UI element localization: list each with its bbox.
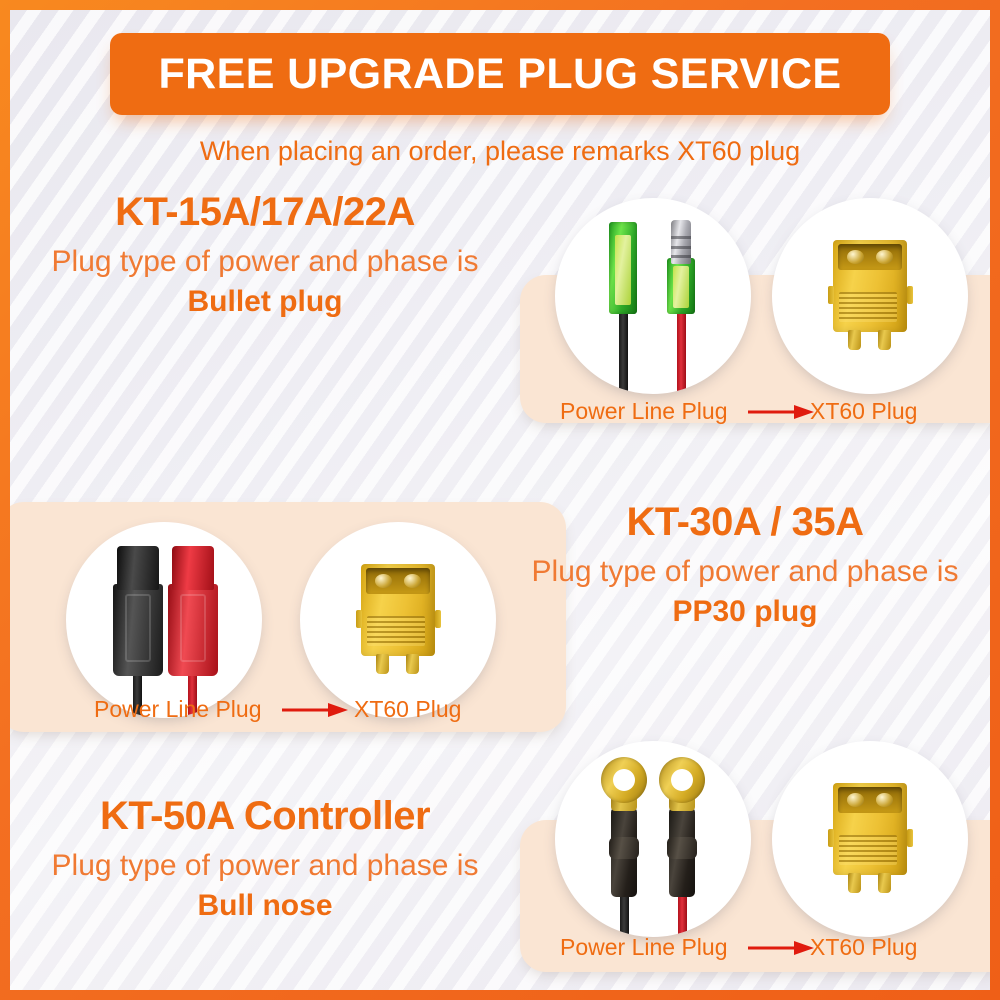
section-3-target-label: XT60 Plug — [810, 934, 917, 961]
section-3-source-photo — [555, 741, 751, 937]
section-1-desc-prefix: Plug type of power and phase is — [52, 245, 479, 278]
section-1-text: KT-15A/17A/22A Plug type of power and ph… — [30, 190, 500, 321]
banner-title: FREE UPGRADE PLUG SERVICE — [159, 50, 842, 99]
section-1-source-photo — [555, 198, 751, 394]
section-1-target-label: XT60 Plug — [810, 398, 917, 425]
section-3-arrow-icon — [748, 939, 816, 962]
section-3-text: KT-50A Controller Plug type of power and… — [30, 794, 500, 925]
section-3-desc-prefix: Plug type of power and phase is — [52, 849, 479, 882]
section-2-desc-prefix: Plug type of power and phase is — [532, 555, 959, 588]
section-2-model: KT-30A / 35A — [510, 500, 980, 544]
xt60-plug-icon — [361, 564, 435, 656]
section-3-target-photo — [772, 741, 968, 937]
bull-nose-ring-terminal-black-icon — [601, 757, 647, 803]
infographic-page: FREE UPGRADE PLUG SERVICE When placing a… — [0, 0, 1000, 1000]
bullet-plug-female-icon — [609, 222, 637, 314]
section-2-description: Plug type of power and phase is PP30 plu… — [510, 552, 980, 631]
header-banner: FREE UPGRADE PLUG SERVICE — [110, 33, 890, 115]
section-row-3: KT-50A Controller Plug type of power and… — [10, 738, 990, 973]
section-1-target-photo — [772, 198, 968, 394]
section-3-desc-bold: Bull nose — [197, 889, 332, 922]
section-3-model: KT-50A Controller — [30, 794, 500, 838]
section-2-arrow-icon — [282, 701, 350, 724]
bullet-pin-icon — [671, 220, 691, 264]
section-3-description: Plug type of power and phase is Bull nos… — [30, 846, 500, 925]
section-1-arrow-icon — [748, 403, 816, 426]
section-2-text: KT-30A / 35A Plug type of power and phas… — [510, 500, 980, 631]
section-row-1: KT-15A/17A/22A Plug type of power and ph… — [10, 190, 990, 425]
bullet-plug-male-icon — [667, 258, 695, 314]
section-3-source-label: Power Line Plug — [560, 934, 728, 961]
section-2-source-photo — [66, 522, 262, 718]
section-2-target-photo — [300, 522, 496, 718]
section-2-source-label: Power Line Plug — [94, 696, 262, 723]
header-subtitle: When placing an order, please remarks XT… — [10, 136, 990, 167]
xt60-plug-icon — [833, 240, 907, 332]
section-1-model: KT-15A/17A/22A — [30, 190, 500, 234]
section-2-desc-bold: PP30 plug — [672, 595, 817, 628]
section-row-2: KT-30A / 35A Plug type of power and phas… — [10, 480, 990, 730]
infographic-canvas: FREE UPGRADE PLUG SERVICE When placing a… — [10, 10, 990, 990]
section-2-target-label: XT60 Plug — [354, 696, 461, 723]
pp30-plug-black-icon — [113, 584, 163, 676]
section-1-desc-bold: Bullet plug — [188, 285, 343, 318]
section-1-source-label: Power Line Plug — [560, 398, 728, 425]
section-1-description: Plug type of power and phase is Bullet p… — [30, 242, 500, 321]
bull-nose-ring-terminal-red-icon — [659, 757, 705, 803]
pp30-plug-red-icon — [168, 584, 218, 676]
xt60-plug-icon — [833, 783, 907, 875]
